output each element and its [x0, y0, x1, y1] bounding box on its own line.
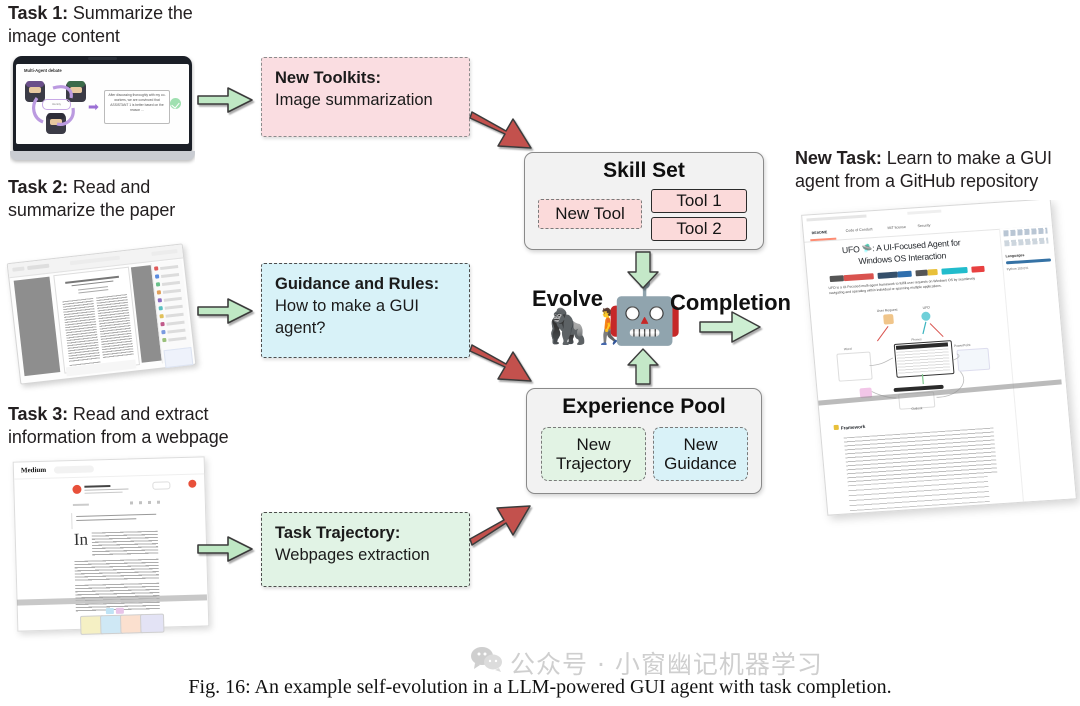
- chip-new-trajectory-line2: Trajectory: [556, 454, 631, 473]
- chip-new-guidance-line2: Guidance: [664, 454, 737, 473]
- chip-new-tool[interactable]: New Tool: [538, 199, 642, 229]
- laptop-camera-notch: [88, 57, 117, 60]
- chip-tool-1[interactable]: Tool 1: [651, 189, 747, 213]
- repo-window: README Code of Conduct MIT license Secur…: [801, 200, 1077, 516]
- skill-set-container: Skill Set New Tool Tool 1 Tool 2: [524, 152, 764, 250]
- chip-new-guidance-line1: New: [683, 435, 717, 454]
- toolbar-chip: [70, 256, 120, 266]
- repo-section-framework: Framework: [841, 424, 866, 431]
- figure-caption: Fig. 16: An example self-evolution in a …: [0, 676, 1080, 699]
- experience-pool-title: Experience Pool: [527, 395, 761, 419]
- arrow-red-guidance-to-pool: [470, 345, 531, 381]
- chip-tool-2[interactable]: Tool 2: [651, 217, 747, 241]
- sidebar-ad-card: [163, 347, 193, 368]
- task-trajectory-heading: Task Trajectory:: [275, 523, 457, 545]
- follow-button[interactable]: [152, 481, 170, 489]
- arrow-green-task1: [198, 88, 252, 112]
- quote-rule: [71, 513, 73, 529]
- framework-emoji-icon: [834, 425, 839, 430]
- process-box-new-toolkits[interactable]: New Toolkits: Image summarization: [261, 57, 470, 137]
- repo-bullets: [844, 428, 998, 484]
- web-window: Medium In: [13, 456, 210, 631]
- article-dropcap: In: [74, 533, 89, 547]
- breadcrumb: [806, 215, 866, 222]
- toolbar-chip: [27, 264, 49, 270]
- screen-title: Multi-Agent debate: [24, 68, 62, 73]
- chip-new-trajectory-line1: New: [576, 435, 610, 454]
- sidebar-language-value: Python 100.0%: [1006, 266, 1028, 271]
- article-paragraph: [92, 531, 159, 557]
- repo-readme-title: UFO 🛸: A UI-Focused Agent for Windows OS…: [825, 236, 979, 270]
- toolbar-chip: [151, 249, 177, 256]
- task-2-label: Task 2: Read and summarize the paper: [8, 176, 238, 222]
- toolbar-chip: [907, 210, 941, 215]
- pdf-column-right: [96, 294, 134, 359]
- process-box-guidance-rules[interactable]: Guidance and Rules: How to make a GUI ag…: [261, 263, 470, 358]
- arrow-green-pool-up: [628, 349, 658, 384]
- author-avatar: [72, 485, 81, 494]
- laptop-screen: Multi-Agent debate Identity ➡ After disc…: [16, 64, 189, 144]
- arrow-green-completion: [700, 312, 760, 342]
- new-toolkits-heading: New Toolkits:: [275, 68, 457, 90]
- guidance-rules-body: How to make a GUI agent?: [275, 296, 457, 340]
- check-icon: [170, 98, 181, 109]
- new-toolkits-body: Image summarization: [275, 90, 457, 112]
- pdf-window: [7, 243, 197, 384]
- thumbnail-medium-article: Medium In: [5, 455, 220, 655]
- tab-readme[interactable]: README: [812, 230, 828, 235]
- article-paragraph: [74, 559, 159, 581]
- pdf-page: [53, 267, 140, 374]
- web-header: Medium: [14, 457, 204, 479]
- tab-security[interactable]: Security: [917, 223, 930, 228]
- repo-sidebar: Languages Python 100.0%: [999, 225, 1076, 501]
- skill-set-title: Skill Set: [525, 159, 763, 183]
- arrow-green-task2: [198, 299, 252, 323]
- medium-logo: Medium: [21, 466, 46, 475]
- purple-arrow-icon: ➡: [88, 100, 99, 113]
- article-diagram: [80, 614, 160, 629]
- task-1-prefix: Task 1:: [8, 3, 68, 23]
- new-task-prefix: New Task:: [795, 148, 882, 168]
- contributor-avatars: [1003, 228, 1047, 237]
- toolbar-chip: [12, 266, 24, 271]
- tab-code-of-conduct[interactable]: Code of Conduct: [845, 227, 872, 233]
- task-3-label: Task 3: Read and extract information fro…: [8, 403, 283, 449]
- process-box-task-trajectory[interactable]: Task Trajectory: Webpages extraction: [261, 512, 470, 587]
- debate-cycle-arrows: [21, 78, 91, 133]
- task-trajectory-body: Webpages extraction: [275, 545, 457, 567]
- search-input[interactable]: [54, 465, 94, 473]
- experience-pool-container: Experience Pool New Trajectory New Guida…: [526, 388, 762, 494]
- pdf-left-pane: [14, 277, 61, 376]
- task-3-prefix: Task 3:: [8, 404, 68, 424]
- arrow-red-trajectory-to-pool: [470, 506, 530, 545]
- pdf-column-left: [62, 298, 100, 363]
- chip-new-trajectory[interactable]: New Trajectory: [541, 427, 646, 481]
- thumbnail-github-ufo-repository: README Code of Conduct MIT license Secur…: [800, 200, 1080, 530]
- new-task-label: New Task: Learn to make a GUI agent from…: [795, 147, 1080, 193]
- completion-label: Completion: [670, 290, 791, 316]
- user-avatar[interactable]: [188, 480, 196, 488]
- task-2-prefix: Task 2:: [8, 177, 68, 197]
- wechat-icon: [470, 646, 504, 677]
- thumbnail-pdf-paper-viewer: [5, 235, 205, 395]
- task-1-label: Task 1: Summarize the image content: [8, 2, 238, 48]
- share-icons[interactable]: [130, 501, 162, 505]
- sidebar-languages-heading: Languages: [1005, 253, 1024, 258]
- debate-result-bubble: After discussing thoroughly with my co-w…: [104, 90, 170, 124]
- chip-new-guidance[interactable]: New Guidance: [653, 427, 748, 481]
- guidance-rules-heading: Guidance and Rules:: [275, 274, 457, 296]
- arrow-red-toolkits-to-skillset: [470, 112, 531, 148]
- thumbnail-laptop-multi-agent-debate: Multi-Agent debate Identity ➡ After disc…: [10, 56, 195, 166]
- contributor-avatars: [1004, 238, 1048, 247]
- tab-mit-license[interactable]: MIT license: [887, 225, 906, 230]
- laptop-base: [10, 151, 195, 160]
- language-bar: [1006, 258, 1051, 264]
